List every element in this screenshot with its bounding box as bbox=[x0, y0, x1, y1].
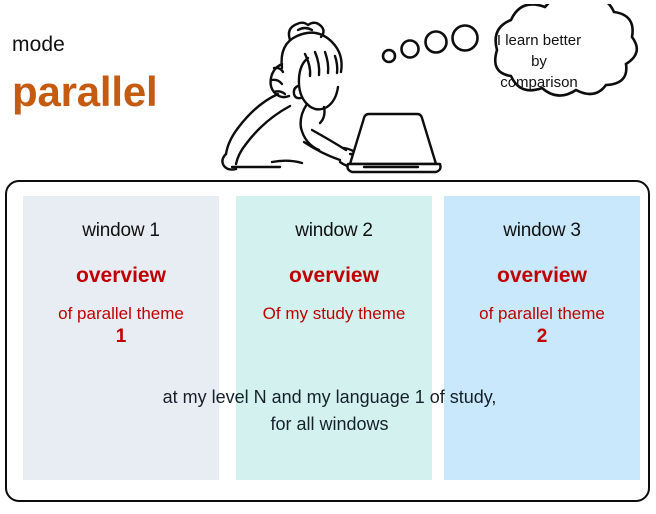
window-column-2[interactable]: window 2 overview Of my study theme bbox=[236, 196, 432, 480]
window-column-3[interactable]: window 3 overview of parallel theme 2 bbox=[444, 196, 640, 480]
window-3-number: 2 bbox=[448, 326, 636, 348]
bubble-line-3: comparison bbox=[463, 72, 615, 93]
header: mode parallel bbox=[0, 0, 656, 180]
window-1-subtitle-text: of parallel theme bbox=[58, 304, 184, 323]
window-1-title: window 1 bbox=[23, 220, 219, 242]
window-1-heading: overview bbox=[23, 264, 219, 288]
window-2-subtitle-text: Of my study theme bbox=[263, 304, 406, 323]
mode-label: mode bbox=[12, 33, 65, 57]
bubble-line-2: by bbox=[463, 51, 615, 72]
thought-bubble-text: I learn better by comparison bbox=[463, 30, 615, 93]
window-3-subtitle-text: of parallel theme bbox=[479, 304, 605, 323]
page-title: parallel bbox=[12, 68, 157, 116]
window-3-heading: overview bbox=[444, 264, 640, 288]
windows-panel: window 1 overview of parallel theme 1 wi… bbox=[5, 180, 650, 502]
window-2-heading: overview bbox=[236, 264, 432, 288]
bubble-line-1: I learn better bbox=[463, 30, 615, 51]
window-2-subtitle: Of my study theme bbox=[236, 303, 432, 325]
window-2-title: window 2 bbox=[236, 220, 432, 242]
window-3-title: window 3 bbox=[444, 220, 640, 242]
window-column-1[interactable]: window 1 overview of parallel theme 1 bbox=[23, 196, 219, 480]
window-1-subtitle: of parallel theme 1 bbox=[23, 303, 219, 348]
window-1-number: 1 bbox=[27, 326, 215, 348]
window-3-subtitle: of parallel theme 2 bbox=[444, 303, 640, 348]
